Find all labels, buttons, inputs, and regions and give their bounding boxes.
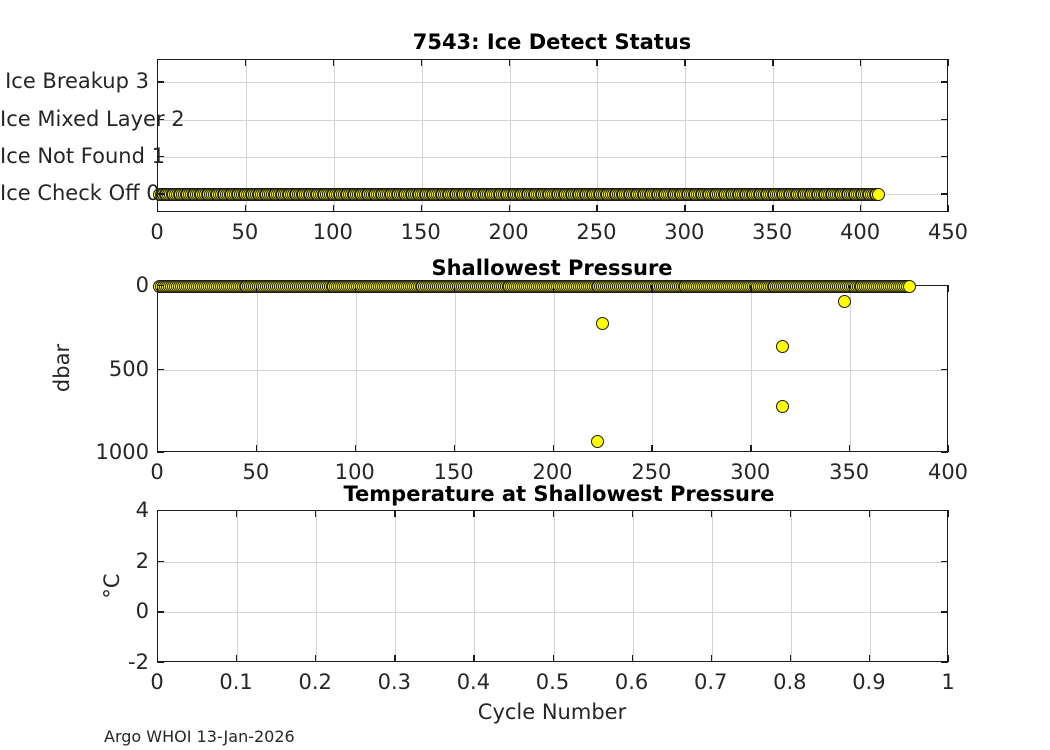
- y-tick-mark-right: [941, 369, 948, 370]
- x-tick-label: 150: [401, 220, 441, 244]
- x-tick-label: 0.6: [615, 670, 648, 694]
- x-tick-mark-top: [948, 59, 949, 66]
- y-tick-mark-right: [941, 611, 948, 612]
- y-tick-mark-right: [941, 119, 948, 120]
- y-tick-label: 500: [0, 357, 149, 381]
- x-tick-mark: [256, 445, 257, 452]
- x-tick-mark-top: [394, 510, 395, 517]
- gridline-vertical: [712, 511, 713, 661]
- y-tick-label: 0: [0, 273, 149, 297]
- gridline-vertical: [474, 511, 475, 661]
- x-tick-label: 350: [752, 220, 792, 244]
- x-tick-label: 250: [576, 220, 616, 244]
- x-tick-label: 200: [489, 220, 529, 244]
- y-tick-mark-right: [941, 285, 948, 286]
- gridline-horizontal: [158, 562, 947, 563]
- x-tick-mark: [333, 205, 334, 212]
- subplot-1-title: 7543: Ice Detect Status: [413, 30, 692, 54]
- data-point-marker-outlier: [591, 435, 604, 448]
- x-tick-mark-top: [315, 510, 316, 517]
- gridline-vertical: [751, 286, 752, 451]
- gridline-vertical: [356, 286, 357, 451]
- x-tick-label: 0.1: [219, 670, 252, 694]
- x-tick-mark: [315, 655, 316, 662]
- gridline-vertical: [870, 511, 871, 661]
- gridline-vertical: [633, 511, 634, 661]
- x-tick-mark: [790, 655, 791, 662]
- data-point-marker-outlier: [776, 400, 789, 413]
- x-tick-mark-top: [553, 510, 554, 517]
- x-tick-mark: [245, 205, 246, 212]
- gridline-vertical: [257, 286, 258, 451]
- y-tick-mark: [157, 561, 164, 562]
- x-tick-mark: [849, 445, 850, 452]
- x-tick-mark: [355, 445, 356, 452]
- x-tick-mark: [948, 205, 949, 212]
- x-tick-mark-top: [651, 285, 652, 292]
- figure-footer-note: Argo WHOI 13-Jan-2026: [104, 727, 295, 746]
- y-tick-label: -2: [0, 650, 149, 674]
- y-tick-mark: [157, 285, 164, 286]
- x-tick-mark-top: [869, 510, 870, 517]
- subplot-3-axes: [157, 510, 948, 662]
- gridline-vertical: [791, 511, 792, 661]
- gridline-vertical: [316, 511, 317, 661]
- x-tick-mark: [553, 445, 554, 452]
- y-tick-label: 4: [0, 498, 149, 522]
- x-tick-label: 150: [434, 460, 474, 484]
- x-tick-mark: [632, 655, 633, 662]
- x-tick-mark-top: [245, 59, 246, 66]
- y-tick-label: Ice Check Off 0: [0, 181, 149, 205]
- gridline-horizontal: [158, 120, 947, 121]
- x-tick-mark: [236, 655, 237, 662]
- x-tick-mark-top: [553, 285, 554, 292]
- x-tick-mark: [772, 205, 773, 212]
- x-tick-mark-top: [421, 59, 422, 66]
- x-tick-label: 0: [150, 220, 163, 244]
- x-tick-label: 300: [730, 460, 770, 484]
- y-tick-label: 1000: [0, 440, 149, 464]
- x-tick-mark: [473, 655, 474, 662]
- x-tick-mark: [157, 205, 158, 212]
- x-tick-mark-top: [509, 59, 510, 66]
- x-tick-mark: [869, 655, 870, 662]
- x-tick-label: 250: [631, 460, 671, 484]
- x-tick-mark-top: [236, 510, 237, 517]
- x-tick-label: 0.3: [378, 670, 411, 694]
- x-tick-label: 1: [941, 670, 954, 694]
- x-tick-mark-top: [596, 59, 597, 66]
- subplot-3-xlabel: Cycle Number: [478, 700, 626, 724]
- x-tick-mark-top: [948, 285, 949, 292]
- y-tick-label: 0: [0, 599, 149, 623]
- gridline-vertical: [237, 511, 238, 661]
- x-tick-mark: [454, 445, 455, 452]
- x-tick-label: 0.9: [852, 670, 885, 694]
- data-point-marker: [872, 188, 885, 201]
- y-tick-mark: [157, 452, 164, 453]
- x-tick-mark-top: [473, 510, 474, 517]
- x-tick-mark: [651, 445, 652, 452]
- gridline-horizontal: [158, 157, 947, 158]
- x-tick-mark-top: [454, 285, 455, 292]
- gridline-vertical: [850, 286, 851, 451]
- x-tick-mark-top: [772, 59, 773, 66]
- y-tick-mark: [157, 662, 164, 663]
- x-tick-label: 400: [928, 460, 968, 484]
- x-tick-mark-top: [333, 59, 334, 66]
- gridline-horizontal: [158, 612, 947, 613]
- x-tick-mark: [750, 445, 751, 452]
- x-tick-label: 0.5: [536, 670, 569, 694]
- y-tick-mark: [157, 81, 164, 82]
- subplot-2-title: Shallowest Pressure: [431, 256, 672, 280]
- x-tick-mark-top: [355, 285, 356, 292]
- data-point-marker-outlier: [838, 295, 851, 308]
- x-tick-mark: [948, 445, 949, 452]
- subplot-3-title: Temperature at Shallowest Pressure: [344, 482, 775, 506]
- x-tick-mark-top: [790, 510, 791, 517]
- x-tick-mark: [157, 445, 158, 452]
- x-tick-label: 400: [840, 220, 880, 244]
- y-tick-mark: [157, 369, 164, 370]
- x-tick-label: 300: [664, 220, 704, 244]
- y-tick-label: Ice Breakup 3: [0, 69, 149, 93]
- x-tick-label: 100: [313, 220, 353, 244]
- data-point-marker-outlier: [776, 340, 789, 353]
- x-tick-mark-top: [632, 510, 633, 517]
- x-tick-label: 0.7: [694, 670, 727, 694]
- y-tick-label: 2: [0, 549, 149, 573]
- gridline-vertical: [652, 286, 653, 451]
- subplot-2-axes: [157, 285, 948, 452]
- x-tick-mark-top: [256, 285, 257, 292]
- x-tick-label: 0.2: [298, 670, 331, 694]
- x-tick-mark-top: [750, 285, 751, 292]
- y-tick-mark: [157, 611, 164, 612]
- x-tick-label: 50: [243, 460, 270, 484]
- x-tick-label: 100: [335, 460, 375, 484]
- x-tick-label: 0: [150, 460, 163, 484]
- x-tick-mark: [509, 205, 510, 212]
- x-tick-mark: [684, 205, 685, 212]
- x-tick-mark: [711, 655, 712, 662]
- x-tick-mark: [421, 205, 422, 212]
- x-tick-mark-top: [157, 59, 158, 66]
- gridline-vertical: [554, 511, 555, 661]
- y-tick-mark-right: [941, 510, 948, 511]
- x-tick-label: 450: [928, 220, 968, 244]
- subplot-1-axes: [157, 59, 948, 212]
- y-tick-label: Ice Not Found 1: [0, 144, 149, 168]
- y-tick-label: Ice Mixed Layer 2: [0, 107, 149, 131]
- x-tick-mark-top: [849, 285, 850, 292]
- gridline-vertical: [554, 286, 555, 451]
- x-tick-label: 200: [532, 460, 572, 484]
- x-tick-mark: [860, 205, 861, 212]
- y-tick-mark: [157, 510, 164, 511]
- gridline-vertical: [455, 286, 456, 451]
- x-tick-label: 0: [150, 670, 163, 694]
- x-tick-mark: [394, 655, 395, 662]
- x-tick-mark: [596, 205, 597, 212]
- x-tick-mark: [553, 655, 554, 662]
- y-tick-mark-right: [941, 452, 948, 453]
- x-tick-mark-top: [948, 510, 949, 517]
- data-point-marker-outlier: [596, 317, 609, 330]
- y-tick-mark-right: [941, 561, 948, 562]
- x-tick-label: 50: [232, 220, 259, 244]
- x-tick-label: 0.4: [457, 670, 490, 694]
- data-point-marker: [903, 280, 916, 293]
- gridline-horizontal: [158, 370, 947, 371]
- y-tick-mark-right: [941, 156, 948, 157]
- y-tick-mark-right: [941, 662, 948, 663]
- figure-canvas: 7543: Ice Detect Status Shallowest Press…: [0, 0, 1050, 750]
- x-tick-label: 350: [829, 460, 869, 484]
- x-tick-mark-top: [711, 510, 712, 517]
- x-tick-mark: [948, 655, 949, 662]
- gridline-horizontal: [158, 82, 947, 83]
- x-tick-label: 0.8: [773, 670, 806, 694]
- y-tick-mark-right: [941, 193, 948, 194]
- x-tick-mark: [157, 655, 158, 662]
- gridline-vertical: [395, 511, 396, 661]
- x-tick-mark-top: [684, 59, 685, 66]
- y-tick-mark-right: [941, 81, 948, 82]
- x-tick-mark-top: [860, 59, 861, 66]
- subplot-3-ylabel: °C: [100, 573, 124, 598]
